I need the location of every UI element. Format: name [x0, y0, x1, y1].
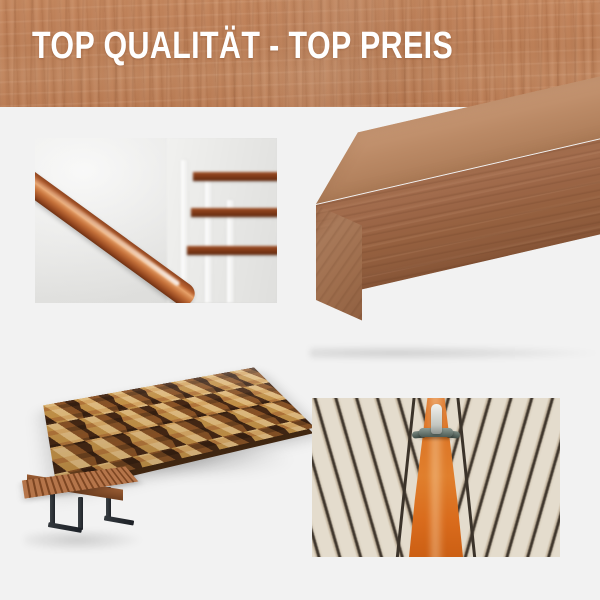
header-banner: TOP QUALITÄT - TOP PREIS — [0, 0, 600, 107]
bench-photo — [18, 455, 148, 555]
baluster — [205, 180, 212, 303]
beam-end-grain-texture — [316, 205, 362, 320]
bench-foot-rail — [104, 515, 134, 525]
banner-title: TOP QUALITÄT - TOP PREIS — [32, 24, 453, 68]
product-collage-page: TOP QUALITÄT - TOP PREIS — [0, 0, 600, 600]
bench-leg — [50, 493, 55, 526]
deck-cleat — [431, 404, 442, 434]
staircase-background — [167, 138, 277, 303]
stair-tread — [193, 172, 277, 181]
handrail-photo — [35, 138, 277, 303]
stair-tread — [187, 246, 277, 255]
bench-leg — [78, 497, 83, 530]
beam-end-face — [316, 205, 362, 320]
timber-beam-photo — [300, 150, 600, 365]
boat-deck-photo — [312, 398, 560, 557]
timber-beam — [300, 150, 600, 365]
stair-tread — [191, 208, 277, 217]
bench-drop-shadow — [24, 529, 142, 551]
beam-drop-shadow — [310, 346, 600, 360]
